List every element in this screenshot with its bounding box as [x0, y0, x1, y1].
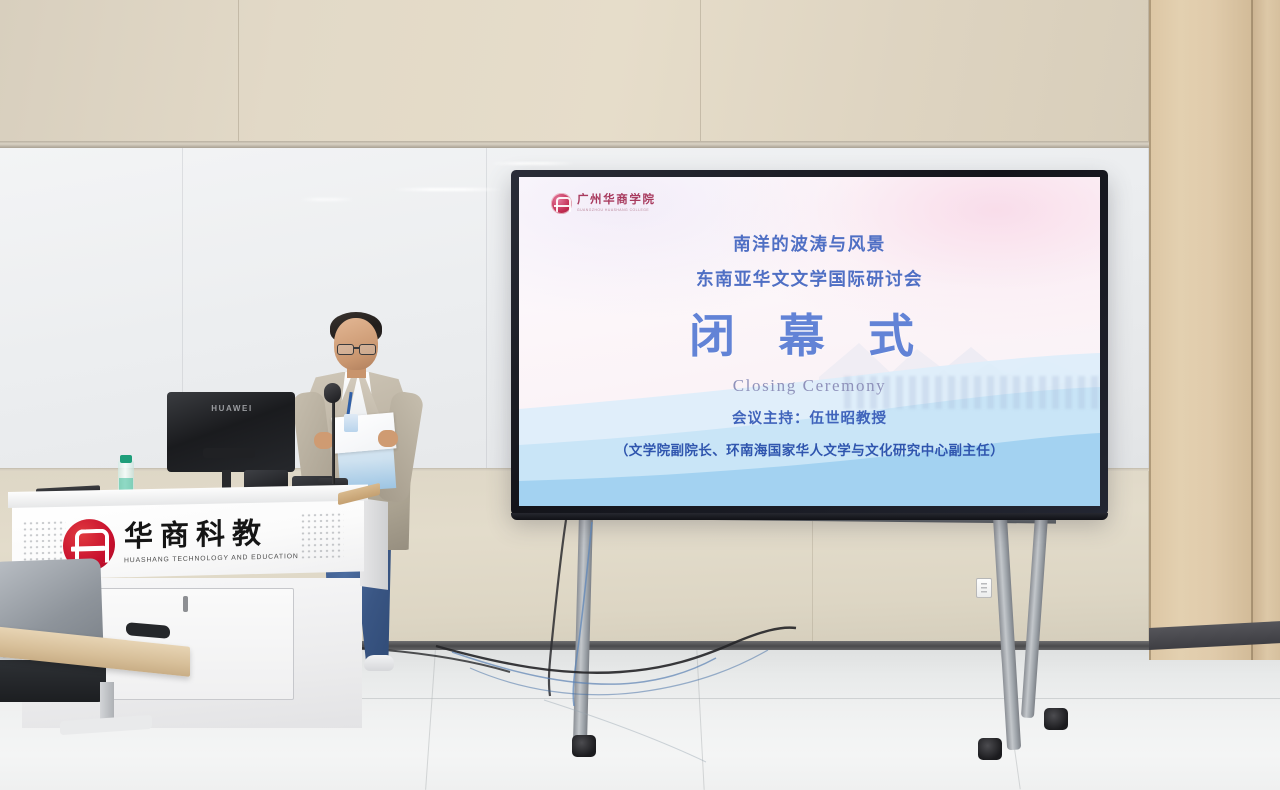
slide-english-subtitle: Closing Ceremony [519, 376, 1100, 396]
lectern-lock [183, 596, 188, 612]
slide-host-line: 会议主持：伍世昭教授 [519, 407, 1100, 428]
speaker-hand-right [378, 430, 398, 447]
ceiling-light-reflection [490, 162, 576, 165]
slide-headline: 闭 幕 式 [519, 300, 1100, 366]
lectern-perforation-right [300, 511, 344, 558]
college-emblem-icon [551, 193, 572, 214]
stand-caster [978, 738, 1002, 760]
webcam [203, 448, 255, 458]
upper-wall [0, 0, 1280, 148]
water-bottle-cap [120, 455, 132, 463]
speaker-hand-left [314, 432, 334, 449]
lectern-sign-chinese: 华商科教 [124, 519, 299, 552]
wall-column [1149, 0, 1252, 660]
monitor-brand-label: HUAWEI [207, 404, 257, 413]
stand-caster [1044, 708, 1068, 730]
wall-column-side [1252, 0, 1280, 660]
logo-english-name: GUANGZHOU HUASHANG COLLEGE [577, 209, 656, 212]
eyeglasses-bridge [353, 347, 359, 349]
ceiling-light-reflection [300, 198, 354, 201]
slide-title-line-2: 东南亚华文文学国际研讨会 [519, 266, 1100, 291]
eyeglasses-right-lens [359, 344, 376, 355]
slide-host-titles: （文学院副院长、环南海国家华人文学与文化研究中心副主任） [519, 439, 1100, 459]
institution-logo: 广州华商学院 GUANGZHOU HUASHANG COLLEGE [551, 193, 656, 214]
lectern-side [360, 498, 388, 590]
lectern-sign-english: HUASHANG TECHNOLOGY AND EDUCATION [124, 554, 299, 565]
display-screen: 广州华商学院 GUANGZHOU HUASHANG COLLEGE 南洋的波涛与… [519, 177, 1100, 506]
photo-scene: 广州华商学院 GUANGZHOU HUASHANG COLLEGE 南洋的波涛与… [0, 0, 1280, 790]
wall-display[interactable]: 广州华商学院 GUANGZHOU HUASHANG COLLEGE 南洋的波涛与… [511, 170, 1108, 515]
logo-chinese-name: 广州华商学院 [577, 195, 656, 207]
name-badge [344, 414, 358, 432]
slide-title-line-1: 南洋的波涛与风景 [519, 231, 1100, 256]
microphone-stem [332, 392, 335, 484]
wall-trim-upper [0, 141, 1280, 148]
ceiling-light-reflection [392, 188, 504, 191]
power-outlet [976, 578, 992, 598]
eyeglasses-left-lens [337, 344, 354, 355]
microphone-head [324, 383, 341, 403]
chair-column [100, 682, 114, 722]
stand-caster [572, 735, 596, 757]
